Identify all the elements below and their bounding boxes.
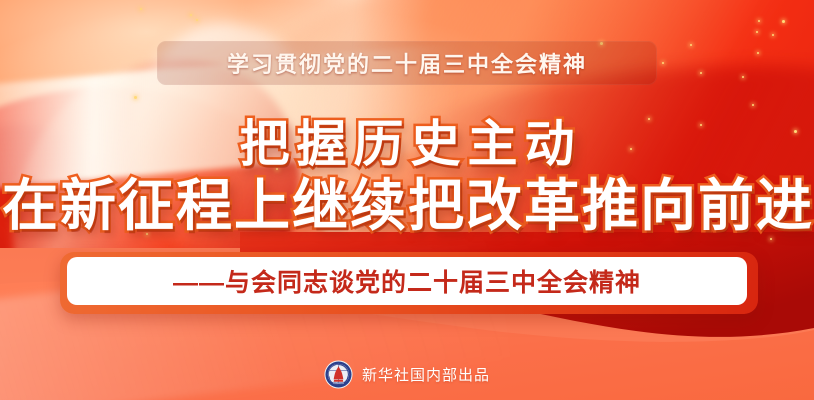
footer-text: 新华社国内部出品 (362, 364, 490, 385)
svg-text:XINHUA: XINHUA (333, 381, 344, 385)
headline-block: 把握历史主动 在新征程上继续把改革推向前进 (0, 115, 814, 239)
xinhua-news-agency-emblem-icon: XINHUA (324, 360, 353, 389)
poster-canvas: 学习贯彻党的二十届三中全会精神 把握历史主动 在新征程上继续把改革推向前进 ——… (0, 0, 814, 400)
poster-content: 学习贯彻党的二十届三中全会精神 把握历史主动 在新征程上继续把改革推向前进 ——… (0, 0, 814, 400)
footer-credit: XINHUA 新华社国内部出品 (0, 360, 814, 389)
kicker-text: 学习贯彻党的二十届三中全会精神 (227, 47, 587, 79)
kicker-banner: 学习贯彻党的二十届三中全会精神 (157, 41, 657, 85)
headline-line-2: 在新征程上继续把改革推向前进 (0, 173, 814, 239)
headline-line-1: 把握历史主动 (0, 115, 814, 173)
subtitle-text: ——与会同志谈党的二十届三中全会精神 (173, 263, 641, 299)
subtitle-plate: ——与会同志谈党的二十届三中全会精神 (67, 257, 747, 305)
